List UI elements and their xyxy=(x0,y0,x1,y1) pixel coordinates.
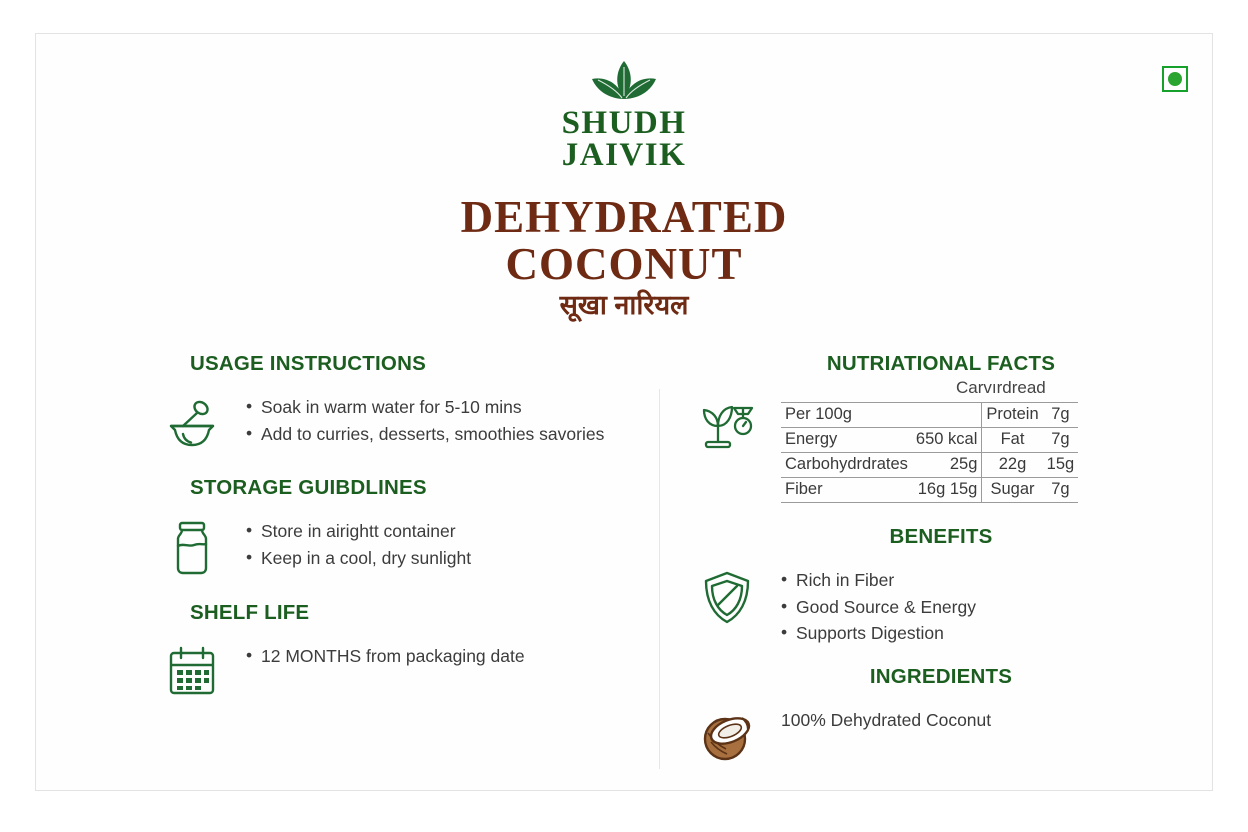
nutrition-right: 7g xyxy=(1043,478,1079,503)
nutrition-label: Per 100g xyxy=(781,403,912,428)
nutritional-facts-heading: NUTRIATIONAL FACTS xyxy=(691,352,1191,376)
shelf-life-section: 12 MONTHS from packaging date xyxy=(156,641,636,697)
nutrition-mid: Protein xyxy=(982,403,1043,428)
benefits-list: Rich in Fiber Good Source & Energy Suppo… xyxy=(781,567,1191,647)
ingredients-heading: INGREDIENTS xyxy=(691,665,1191,689)
list-item: Store in airightt container xyxy=(246,518,636,545)
usage-instructions-section: Soak in warm water for 5-10 mins Add to … xyxy=(156,392,636,448)
list-item: Add to curries, desserts, smoothies savo… xyxy=(246,421,636,448)
nutrition-mid: Fat xyxy=(982,428,1043,453)
storage-guidelines-list: Store in airightt container Keep in a co… xyxy=(246,518,636,571)
nutrition-label: Carbohydrdrates xyxy=(781,453,912,478)
usage-instructions-body: Soak in warm water for 5-10 mins Add to … xyxy=(246,392,636,447)
right-column: NUTRIATIONAL FACTS Carvırdread xyxy=(691,352,1191,763)
shield-check-icon xyxy=(691,565,763,627)
ingredients-section: 100% Dehydrated Coconut xyxy=(691,705,1191,763)
nutritional-facts-table-wrap: Carvırdread Per 100g Protein 7g Energy 6… xyxy=(781,392,1191,503)
product-label-card: SHUDH JAIVIK DEHYDRATED COCONUT सूखा नार… xyxy=(35,33,1213,791)
storage-guidelines-body: Store in airightt container Keep in a co… xyxy=(246,516,636,571)
nutrition-table: Per 100g Protein 7g Energy 650 kcal Fat … xyxy=(781,402,1078,503)
storage-guidelines-heading: STORAGE GUIBDLINES xyxy=(156,476,636,500)
list-item: Soak in warm water for 5-10 mins xyxy=(246,394,636,421)
list-item: Good Source & Energy xyxy=(781,594,1191,621)
bowl-spoon-icon xyxy=(156,392,228,448)
jar-icon xyxy=(156,516,228,576)
list-item: 12 MONTHS from packaging date xyxy=(246,643,636,670)
nutrition-value: 25g xyxy=(912,453,982,478)
benefits-heading: BENEFITS xyxy=(691,525,1191,549)
nutrition-mid: 22g xyxy=(982,453,1043,478)
list-item: Keep in a cool, dry sunlight xyxy=(246,545,636,572)
table-row: Carbohydrdrates 25g 22g 15g xyxy=(781,453,1078,478)
list-item: Rich in Fiber xyxy=(781,567,1191,594)
shelf-life-list: 12 MONTHS from packaging date xyxy=(246,643,636,670)
column-divider xyxy=(659,389,660,769)
storage-guidelines-section: Store in airightt container Keep in a co… xyxy=(156,516,636,576)
nutrition-right: 15g xyxy=(1043,453,1079,478)
ingredients-text: 100% Dehydrated Coconut xyxy=(781,707,1191,733)
product-title-line-1: DEHYDRATED xyxy=(36,194,1212,241)
benefits-body: Rich in Fiber Good Source & Energy Suppo… xyxy=(781,565,1191,647)
left-column: USAGE INSTRUCTIONS Soak in warm water fo… xyxy=(156,352,636,697)
product-title-hindi: सूखा नारियल xyxy=(36,291,1212,319)
product-title: DEHYDRATED COCONUT सूखा नारियल xyxy=(36,194,1212,319)
nutrition-label: Fiber xyxy=(781,478,912,503)
calendar-icon xyxy=(156,641,228,697)
usage-instructions-heading: USAGE INSTRUCTIONS xyxy=(156,352,636,376)
table-row: Fiber 16g 15g Sugar 7g xyxy=(781,478,1078,503)
shelf-life-heading: SHELF LIFE xyxy=(156,601,636,625)
shelf-life-body: 12 MONTHS from packaging date xyxy=(246,641,636,670)
nutrition-right: 7g xyxy=(1043,428,1079,453)
nutritional-facts-section: Carvırdread Per 100g Protein 7g Energy 6… xyxy=(691,392,1191,503)
nutrition-right: 7g xyxy=(1043,403,1079,428)
nutrition-value: 16g 15g xyxy=(912,478,982,503)
nutrition-mid: Sugar xyxy=(982,478,1043,503)
ingredients-body: 100% Dehydrated Coconut xyxy=(781,705,1191,733)
plant-scale-icon xyxy=(691,392,763,454)
nutrition-floating-text: Carvırdread xyxy=(956,378,1046,398)
benefits-section: Rich in Fiber Good Source & Energy Suppo… xyxy=(691,565,1191,647)
leaf-trio-icon xyxy=(36,59,1212,107)
brand-block: SHUDH JAIVIK xyxy=(36,59,1212,172)
list-item: Supports Digestion xyxy=(781,620,1191,647)
brand-line-1: SHUDH xyxy=(562,105,687,141)
nutrition-label: Energy xyxy=(781,428,912,453)
product-title-line-2: COCONUT xyxy=(36,241,1212,288)
brand-line-2: JAIVIK xyxy=(36,139,1212,171)
coconut-icon xyxy=(691,705,763,763)
brand-name: SHUDH JAIVIK xyxy=(36,107,1212,172)
table-row: Per 100g Protein 7g xyxy=(781,403,1078,428)
nutrition-value: 650 kcal xyxy=(912,428,982,453)
table-row: Energy 650 kcal Fat 7g xyxy=(781,428,1078,453)
usage-instructions-list: Soak in warm water for 5-10 mins Add to … xyxy=(246,394,636,447)
nutrition-value xyxy=(912,403,982,428)
